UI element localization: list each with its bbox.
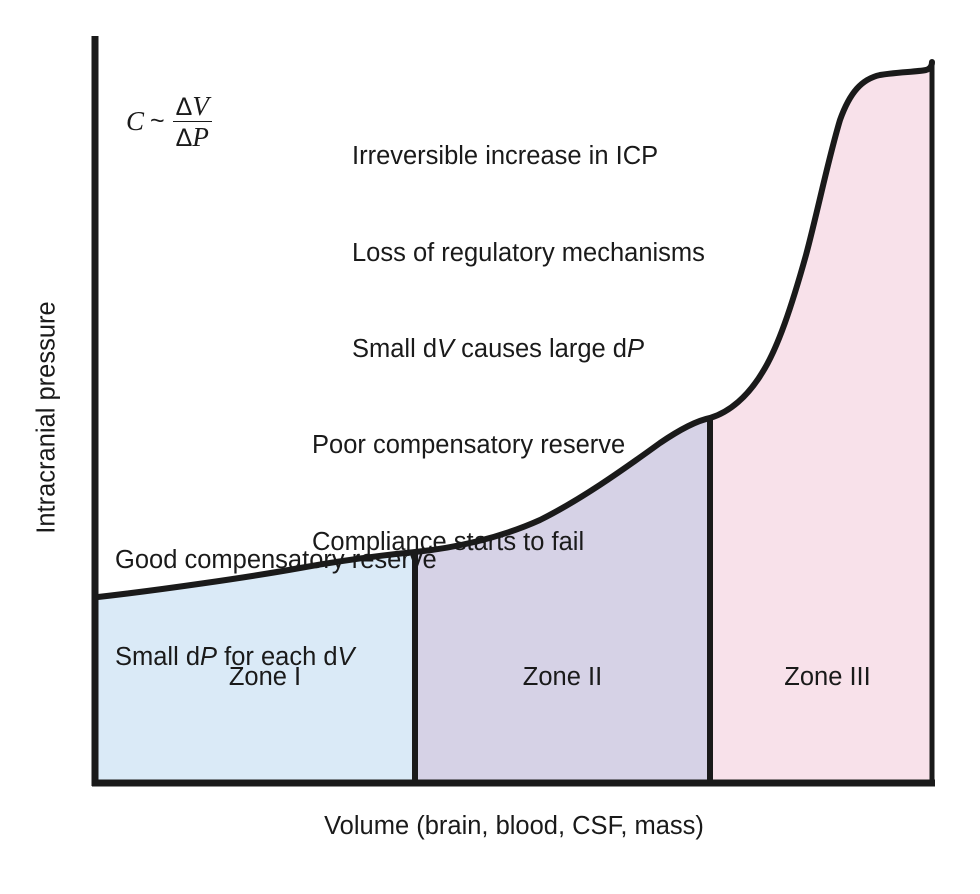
zone-label-zone-2: Zone II [435, 663, 690, 692]
annotation-zone-3-line-3-var-p: P [627, 335, 644, 363]
annotation-zone-1: Good compensatory reserve Small dP for e… [115, 480, 437, 737]
annotation-zone-3-line-3: Small dV causes large dP [352, 333, 705, 365]
formula-numerator: ΔV [173, 92, 212, 121]
annotation-zone-3-line-1: Irreversible increase in ICP [352, 140, 705, 172]
formula-denominator: ΔP [173, 121, 212, 151]
compliance-curve-figure: C ~ ΔV ΔP Irreversible increase in ICP L… [0, 0, 980, 894]
zone-label-zone-3: Zone III [730, 663, 925, 692]
formula-numerator-delta: Δ [176, 93, 193, 121]
annotation-zone-3-line-2: Loss of regulatory mechanisms [352, 237, 705, 269]
zone-label-zone-1: Zone I [135, 663, 395, 692]
annotation-zone-3-line-3-mid: causes large d [454, 335, 627, 363]
formula-denominator-delta: Δ [176, 124, 193, 152]
x-axis-title: Volume (brain, blood, CSF, mass) [95, 812, 933, 841]
formula-symbol-c: C [126, 106, 144, 137]
formula-fraction: ΔV ΔP [173, 92, 212, 152]
annotation-zone-1-line-1: Good compensatory reserve [115, 544, 437, 576]
annotation-zone-3-line-3-var-v: V [437, 335, 454, 363]
compliance-formula: C ~ ΔV ΔP [126, 92, 212, 152]
formula-numerator-variable: V [192, 91, 209, 121]
y-axis-title: Intracranial pressure [33, 268, 62, 568]
annotation-zone-2-line-1: Poor compensatory reserve [312, 429, 625, 461]
annotation-zone-3-line-3-pre: Small d [352, 335, 437, 363]
formula-relation: ~ [150, 107, 167, 136]
formula-denominator-variable: P [192, 122, 209, 152]
